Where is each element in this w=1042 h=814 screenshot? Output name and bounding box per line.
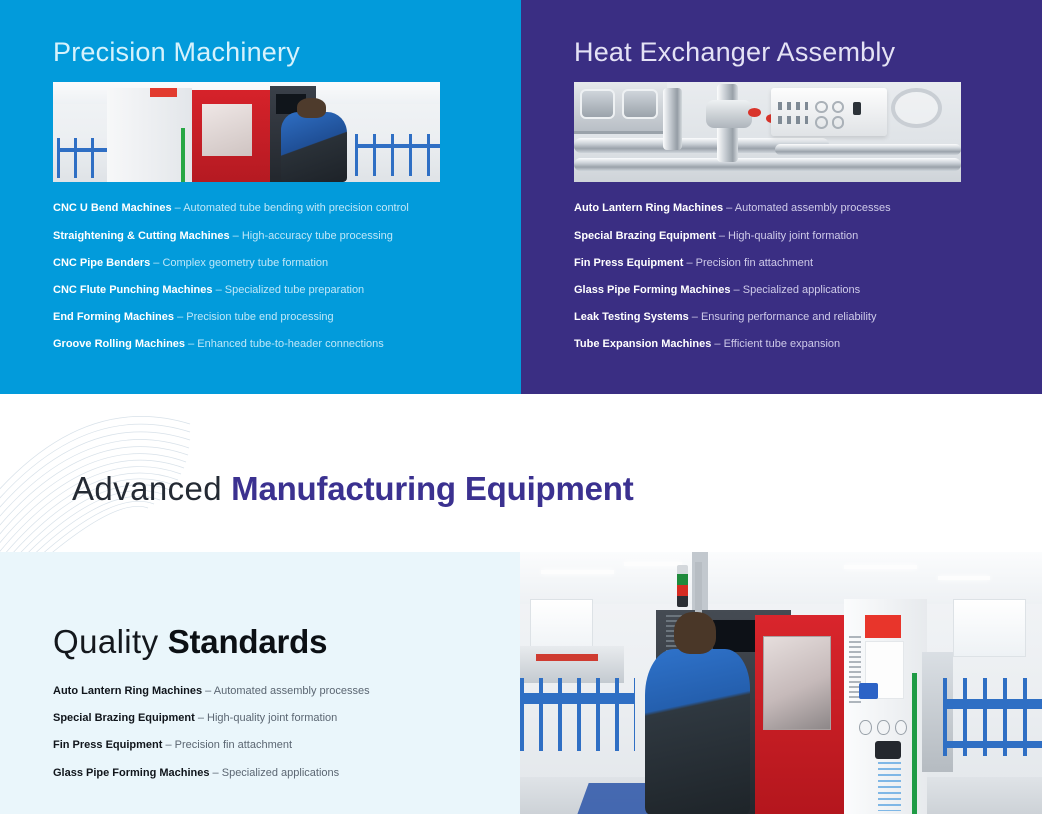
feature-list-heat-exchanger-assembly: Auto Lantern Ring Machines – Automated a…: [521, 202, 1042, 351]
list-item: Glass Pipe Forming Machines – Specialize…: [574, 284, 1042, 297]
feature-list-precision-machinery: CNC U Bend Machines – Automated tube ben…: [0, 202, 521, 351]
photo-blue-tool: [859, 683, 877, 699]
list-item-desc: Precision tube end processing: [186, 311, 333, 323]
list-item-term: Auto Lantern Ring Machines: [574, 202, 723, 214]
list-item: Special Brazing Equipment – High-quality…: [53, 712, 370, 725]
list-item-desc: Specialized applications: [743, 284, 860, 296]
photo-control-cabinet: [771, 88, 887, 136]
photo-red-label: [865, 615, 902, 639]
list-item-dash: –: [185, 338, 197, 350]
photo-green-cable: [181, 128, 186, 182]
photo-cabinet-dial: [832, 116, 845, 128]
list-item-term: Fin Press Equipment: [53, 739, 162, 751]
quality-standards-row: Quality Standards Auto Lantern Ring Mach…: [0, 552, 1042, 814]
list-item: Groove Rolling Machines – Enhanced tube-…: [53, 338, 521, 351]
list-item-term: Leak Testing Systems: [574, 311, 689, 323]
list-item-desc: Complex geometry tube formation: [162, 257, 328, 269]
list-item-desc: High-quality joint formation: [207, 712, 337, 724]
list-item: CNC Flute Punching Machines – Specialize…: [53, 284, 521, 297]
list-item-term: CNC U Bend Machines: [53, 202, 172, 214]
photo-machine-window: [763, 636, 831, 730]
quality-standards-title-light: Quality: [53, 623, 159, 660]
list-item: Straightening & Cutting Machines – High-…: [53, 230, 521, 243]
list-item-dash: –: [683, 257, 695, 269]
list-item: End Forming Machines – Precision tube en…: [53, 311, 521, 324]
panel-heat-exchanger-assembly: Heat Exchanger Assembly: [521, 0, 1042, 394]
panel-title-precision-machinery: Precision Machinery: [0, 36, 521, 68]
list-item-term: Fin Press Equipment: [574, 257, 683, 269]
page-title-bold: Manufacturing Equipment: [231, 470, 633, 507]
photo-ceiling-light: [541, 570, 614, 574]
list-item-desc: Automated assembly processes: [214, 685, 370, 697]
photo-tube-rack-left: [520, 678, 635, 751]
cnc-machine-operator-photo: [520, 552, 1042, 814]
list-item-term: Tube Expansion Machines: [574, 338, 711, 350]
list-item: Fin Press Equipment – Precision fin atta…: [574, 257, 1042, 270]
photo-worker-head: [674, 612, 716, 654]
list-item: CNC U Bend Machines – Automated tube ben…: [53, 202, 521, 215]
list-item-desc: Specialized applications: [222, 767, 339, 779]
list-item-dash: –: [162, 739, 174, 751]
list-item-desc: Specialized tube preparation: [225, 284, 364, 296]
list-item-dash: –: [202, 685, 214, 697]
list-item-desc: High-quality joint formation: [728, 230, 858, 242]
list-item-dash: –: [731, 284, 743, 296]
list-item-dash: –: [723, 202, 735, 214]
photo-gauge: [859, 720, 872, 736]
photo-cabinet-buttons-row1: [778, 102, 808, 110]
panel-title-heat-exchanger-assembly: Heat Exchanger Assembly: [521, 36, 1042, 68]
feature-panels-row: Precision Machinery CNC U Bend M: [0, 0, 1042, 394]
list-item-dash: –: [174, 311, 186, 323]
list-item-dash: –: [711, 338, 723, 350]
list-item-dash: –: [150, 257, 162, 269]
section-heading-band: Advanced Manufacturing Equipment: [0, 394, 1042, 552]
photo-wall-window: [953, 599, 1026, 657]
photo-green-hose: [912, 673, 917, 814]
photo-machine-mast: [695, 562, 702, 614]
list-item-term: CNC Flute Punching Machines: [53, 284, 213, 296]
photo-signal-tower: [677, 565, 688, 607]
photo-handwheel: [891, 88, 941, 128]
photo-conveyor-stripe: [536, 654, 599, 661]
list-item: Special Brazing Equipment – High-quality…: [574, 230, 1042, 243]
list-item-desc: Precision fin attachment: [696, 257, 813, 269]
list-item-dash: –: [172, 202, 184, 214]
photo-pipe-mid: [775, 144, 961, 155]
photo-tube-rack-right-bar: [943, 741, 1042, 749]
photo-vessel: [574, 82, 667, 134]
list-item: Glass Pipe Forming Machines – Specialize…: [53, 767, 370, 780]
marketing-page: Precision Machinery CNC U Bend M: [0, 0, 1042, 814]
photo-vessel-port-b: [622, 89, 657, 118]
list-item-term: Straightening & Cutting Machines: [53, 230, 230, 242]
list-item-dash: –: [716, 230, 728, 242]
photo-cabinet-switch: [853, 102, 861, 115]
list-item: Auto Lantern Ring Machines – Automated a…: [53, 685, 370, 698]
list-item-term: Special Brazing Equipment: [574, 230, 716, 242]
photo-socket-panel: [875, 741, 901, 759]
photo-console-screen: [713, 620, 755, 651]
photo-tube-rack-right-bar: [943, 699, 1042, 709]
photo-white-machine: [107, 88, 192, 182]
list-item-term: Auto Lantern Ring Machines: [53, 685, 202, 697]
photo-vessel-port-a: [580, 89, 615, 118]
photo-gauge: [877, 720, 890, 736]
list-item: Auto Lantern Ring Machines – Automated a…: [574, 202, 1042, 215]
list-item-dash: –: [195, 712, 207, 724]
photo-worker-head: [297, 98, 326, 118]
heat-exchanger-piping-photo: [574, 82, 961, 182]
list-item-dash: –: [213, 284, 225, 296]
photo-valve-assembly: [706, 100, 752, 128]
list-item-desc: High-accuracy tube processing: [242, 230, 393, 242]
list-item-desc: Automated assembly processes: [735, 202, 891, 214]
photo-tube-rack-left-bar: [520, 693, 635, 703]
photo-ceiling-light: [844, 565, 917, 569]
photo-coiled-hose: [878, 762, 901, 812]
list-item-dash: –: [230, 230, 242, 242]
photo-tube-rack-right-bar: [355, 144, 440, 148]
list-item: Leak Testing Systems – Ensuring performa…: [574, 311, 1042, 324]
photo-vertical-pipe-a: [663, 88, 682, 150]
feature-list-quality-standards: Auto Lantern Ring Machines – Automated a…: [53, 685, 370, 794]
list-item: Fin Press Equipment – Precision fin atta…: [53, 739, 370, 752]
list-item-desc: Precision fin attachment: [175, 739, 292, 751]
photo-tube-rack-right: [355, 134, 440, 176]
photo-red-valve-a: [748, 108, 761, 117]
list-item-term: Glass Pipe Forming Machines: [53, 767, 210, 779]
list-item-term: Special Brazing Equipment: [53, 712, 195, 724]
list-item: CNC Pipe Benders – Complex geometry tube…: [53, 257, 521, 270]
list-item-desc: Automated tube bending with precision co…: [183, 202, 409, 214]
cnc-machine-shop-photo: [53, 82, 440, 182]
photo-worker-body: [281, 112, 347, 182]
list-item-dash: –: [210, 767, 222, 779]
list-item-dash: –: [689, 311, 701, 323]
list-item: Tube Expansion Machines – Efficient tube…: [574, 338, 1042, 351]
photo-pipe-lower: [574, 158, 961, 171]
page-title-light: Advanced: [72, 470, 222, 507]
photo-machine-window: [202, 104, 252, 156]
photo-ceiling-light: [624, 562, 681, 566]
photo-cabinet-dial: [832, 101, 845, 113]
photo-worker-body: [645, 649, 749, 814]
photo-cabinet-buttons-row2: [778, 116, 808, 124]
list-item-desc: Ensuring performance and reliability: [701, 311, 876, 323]
photo-cabinet-dial: [815, 116, 828, 128]
list-item-term: Groove Rolling Machines: [53, 338, 185, 350]
list-item-term: Glass Pipe Forming Machines: [574, 284, 731, 296]
list-item-desc: Enhanced tube-to-header connections: [197, 338, 384, 350]
quality-standards-title-bold: Standards: [168, 623, 328, 660]
photo-ceiling-light: [938, 576, 990, 580]
photo-red-label: [150, 88, 177, 97]
list-item-term: CNC Pipe Benders: [53, 257, 150, 269]
list-item-term: End Forming Machines: [53, 311, 174, 323]
photo-cabinet-dial: [815, 101, 828, 113]
panel-precision-machinery: Precision Machinery CNC U Bend M: [0, 0, 521, 394]
page-title: Advanced Manufacturing Equipment: [72, 471, 634, 507]
list-item-desc: Efficient tube expansion: [724, 338, 841, 350]
panel-quality-standards: Quality Standards Auto Lantern Ring Mach…: [0, 552, 520, 814]
quality-standards-title: Quality Standards: [53, 624, 327, 660]
